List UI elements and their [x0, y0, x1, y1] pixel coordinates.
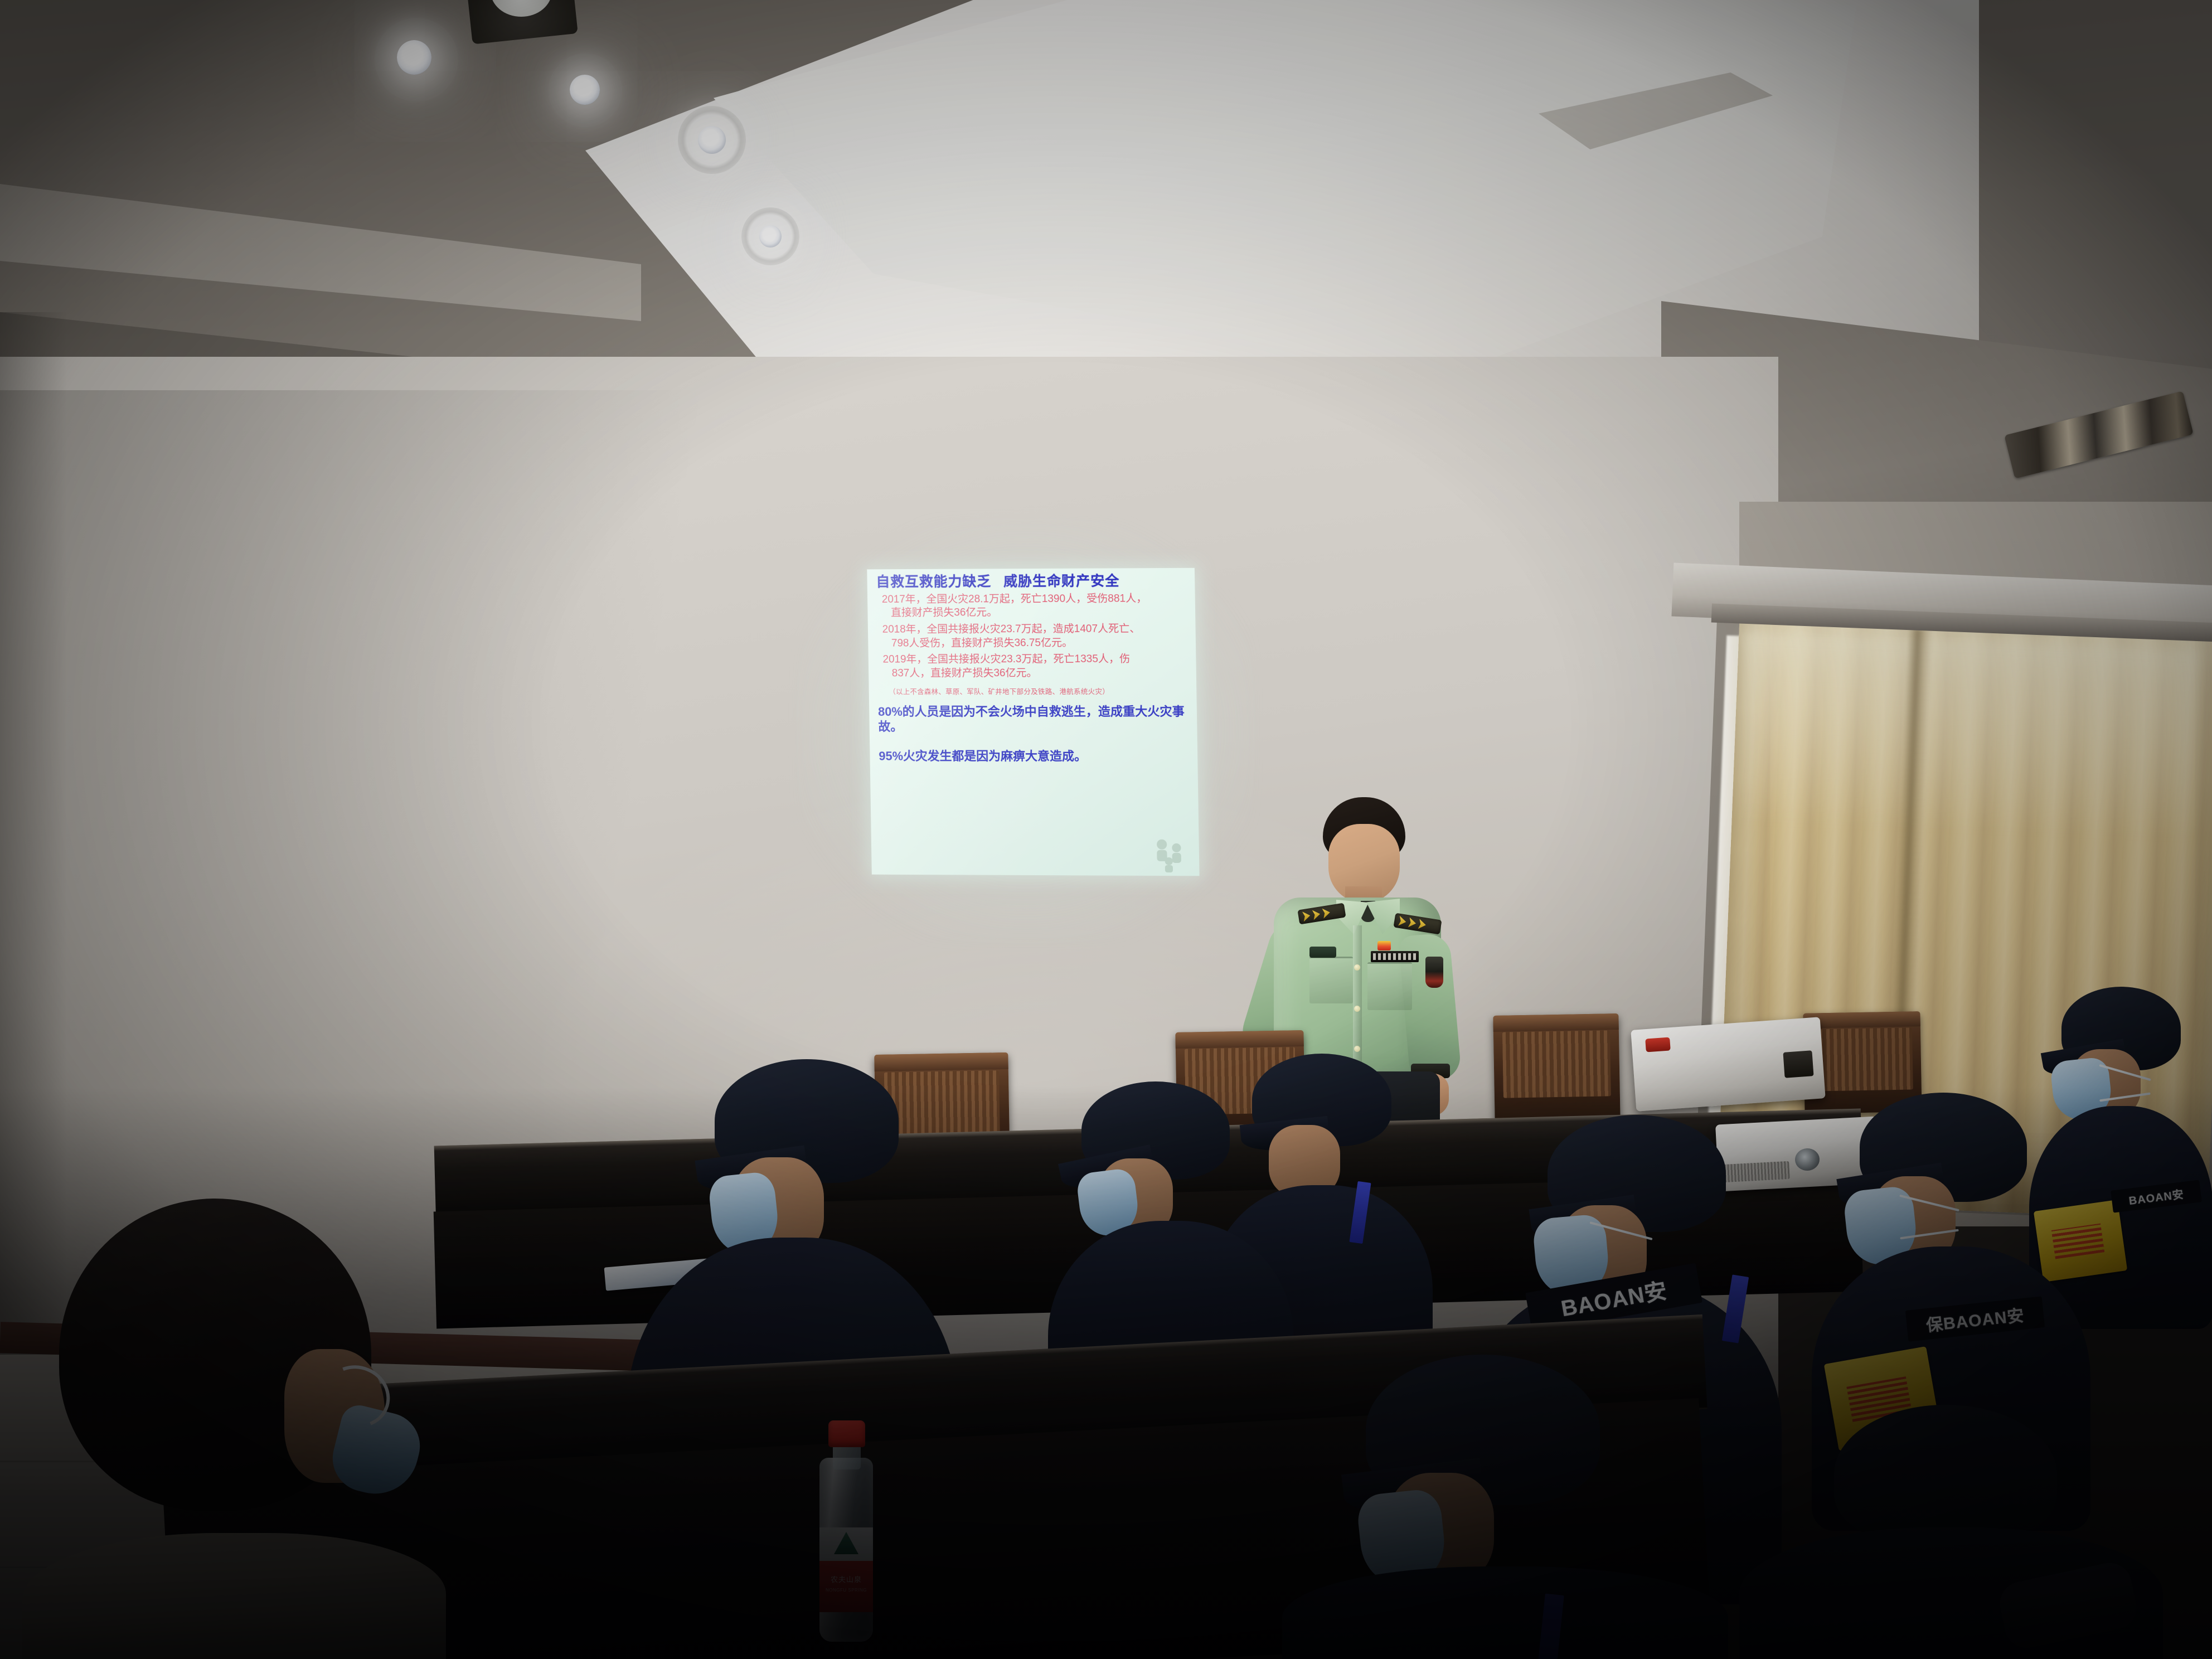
- slide-stat-2019-line1: 2019年，全国共接报火灾23.3万起，死亡1335人，伤: [882, 653, 1130, 666]
- slide-stat-2018-line1: 2018年，全国共接报火灾23.7万起，造成1407人死亡、: [882, 623, 1141, 635]
- slide-stat-2018: 2018年，全国共接报火灾23.7万起，造成1407人死亡、 798人受伤，直接…: [877, 622, 1188, 651]
- presenter-party-badge-icon: [1377, 941, 1391, 950]
- projected-slide: 自救互救能力缺乏威胁生命财产安全 2017年，全国火灾28.1万起，死亡1390…: [867, 568, 1199, 876]
- torso: [1282, 1566, 1728, 1659]
- water-bottle-cap[interactable]: [828, 1420, 865, 1447]
- downlight-3-icon: [698, 126, 726, 154]
- beige-shirt: [22, 1533, 446, 1659]
- slide-title-left: 自救互救能力缺乏: [876, 574, 991, 590]
- slide-stat-2019: 2019年，全国共接报火灾23.3万起，死亡1335人，伤 837人，直接财产损…: [877, 653, 1188, 681]
- slide-stat-2019-line2: 837人，直接财产损失36亿元。: [877, 667, 1189, 681]
- equipment-case-handle[interactable]: [1645, 1037, 1671, 1052]
- slide-title-right: 威胁生命财产安全: [1003, 573, 1120, 589]
- slide-title: 自救互救能力缺乏威胁生命财产安全: [876, 574, 1187, 590]
- peaked-cap: [1834, 1405, 2057, 1544]
- training-room-photo: 自救互救能力缺乏威胁生命财产安全 2017年，全国火灾28.1万起，死亡1390…: [0, 0, 2212, 1659]
- slide-watermark-icon: [1149, 836, 1192, 873]
- downlight-2-icon: [570, 75, 600, 105]
- slide-highlight-95: 95%火灾发生都是因为麻痹大意造成。: [879, 749, 1190, 764]
- equipment-case-latch[interactable]: [1783, 1050, 1813, 1078]
- wooden-chair[interactable]: [1493, 1013, 1620, 1122]
- curtain-highlight: [1736, 632, 2200, 839]
- presenter-pocket-right: [1367, 962, 1412, 1010]
- slide-footnote: （以上不含森林、草原、军队、矿井地下部分及铁路、港航系统火灾）: [877, 685, 1189, 696]
- presenter-shoulder-patch-icon: [1425, 957, 1443, 988]
- presenter-pocket-left: [1309, 957, 1353, 1003]
- downlight-1-icon: [397, 40, 431, 75]
- downlight-4-icon: [759, 225, 782, 248]
- attendee-bottom-center-guard: [1282, 1355, 1728, 1659]
- slide-highlight-80: 80%的人员是因为不会火场中自救逃生，造成重大火灾事故。: [878, 704, 1190, 734]
- baoan-back-tape-text: BAOAN安: [2128, 1185, 2185, 1208]
- water-bottle-brand-cn: 农夫山泉: [819, 1574, 873, 1585]
- presenter-name-tag-text: [1373, 953, 1418, 960]
- presenter-chest-emblem-icon: [1309, 947, 1336, 958]
- slide-stat-2017-line1: 2017年，全国火灾28.1万起，死亡1390人，受伤881人，: [882, 593, 1147, 605]
- slide-stat-2017-line2: 直接财产损失36亿元。: [876, 605, 1187, 620]
- presenter-button-2: [1354, 1006, 1360, 1012]
- slide-stat-2018-line2: 798人受伤，直接财产损失36.75亿元。: [877, 636, 1188, 651]
- water-bottle-brand-en: NONGFU SPRING: [819, 1587, 873, 1594]
- attendee-foreground-civilian: [22, 1199, 446, 1659]
- presenter-button-1: [1354, 964, 1360, 971]
- presenter-button-3: [1354, 1046, 1360, 1052]
- attendee-bottom-right-guard: [1739, 1405, 2163, 1659]
- slide-stat-2017: 2017年，全国火灾28.1万起，死亡1390人，受伤881人， 直接财产损失3…: [876, 591, 1187, 620]
